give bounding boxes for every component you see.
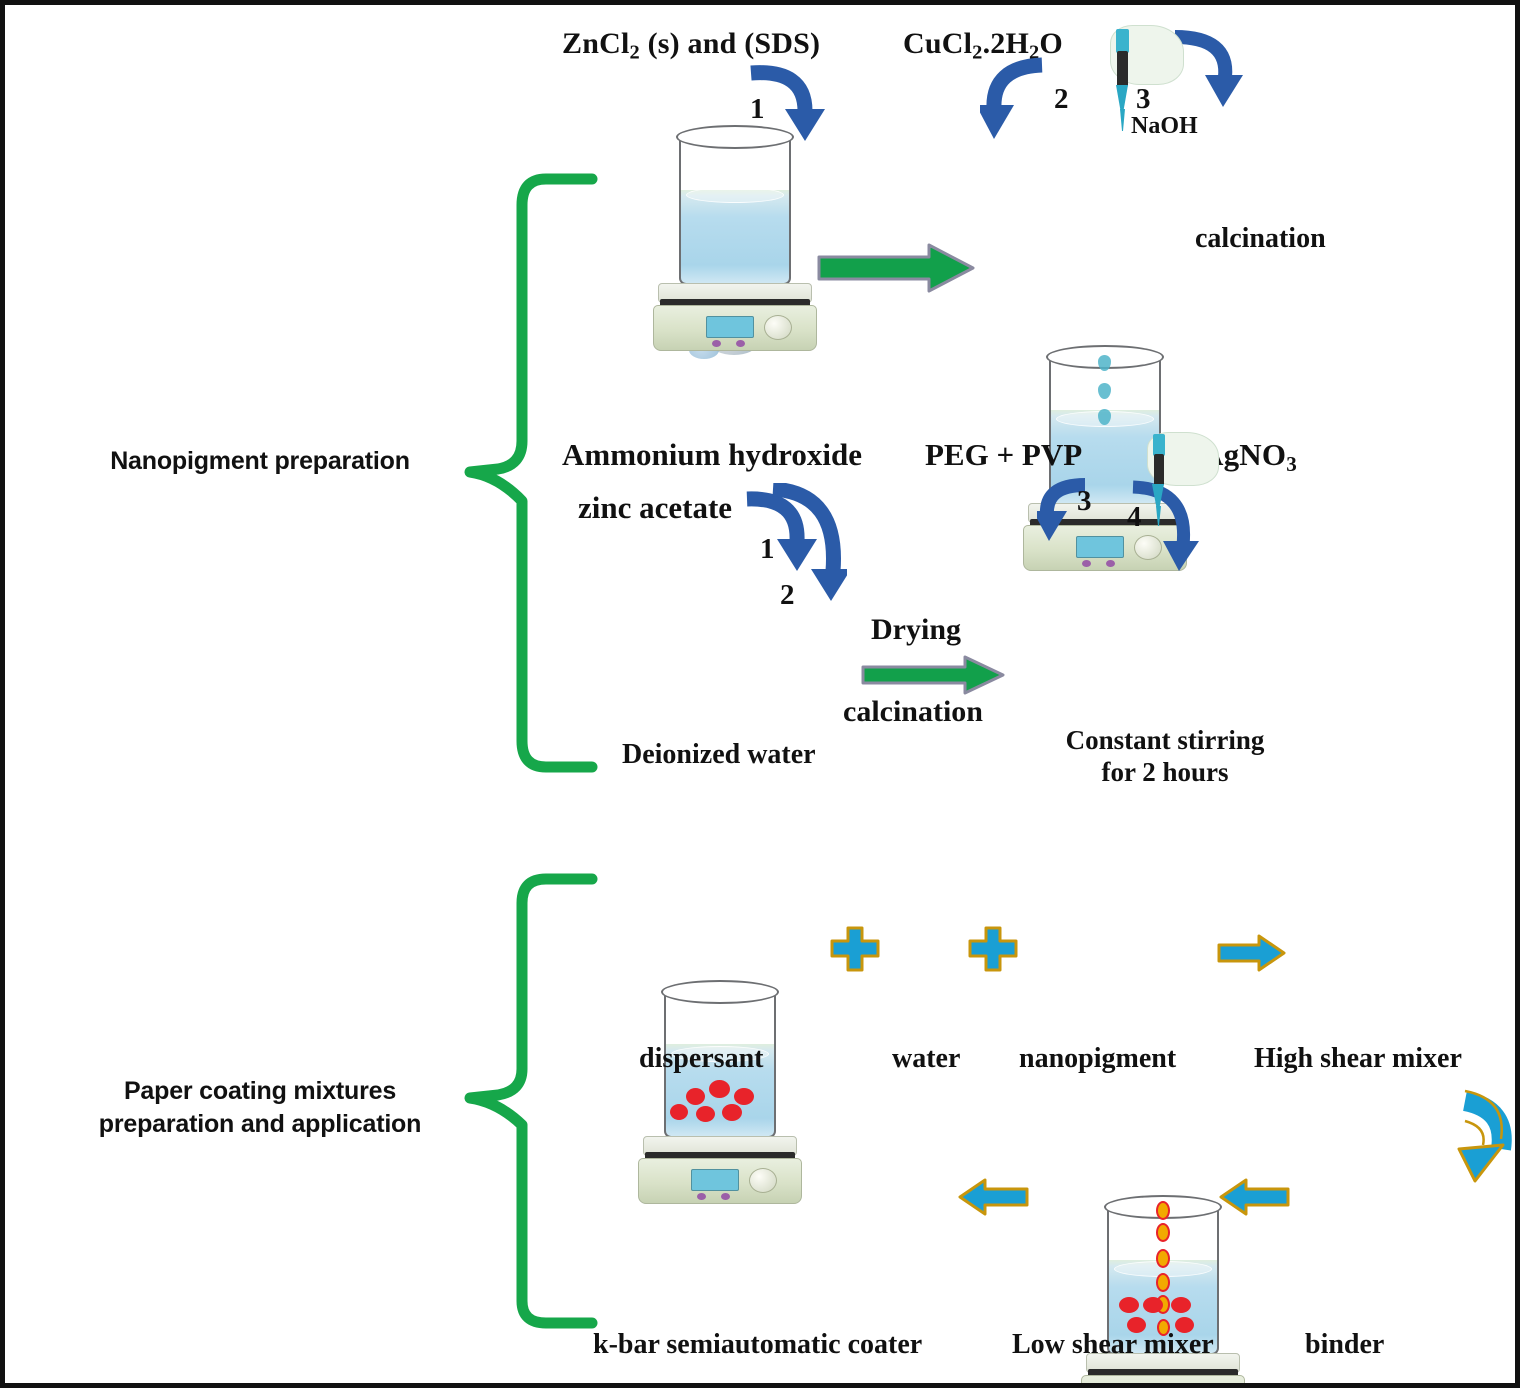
green-arrow-icon-a (817, 241, 977, 304)
label-constant-stirring-line1: Constant stirring (1020, 725, 1310, 757)
pipette-in-hand-icon-top (1080, 23, 1190, 133)
reagent-zncl2-sds: ZnCl2 (s) and (SDS) (562, 27, 820, 65)
section-label-coating: Paper coating mixtures preparation and a… (50, 1075, 470, 1141)
label-deionized-water: Deionized water (622, 739, 816, 771)
cyan-arrow-icon-to-low-mixer (1218, 1177, 1290, 1222)
step-number-2-top: 2 (1054, 83, 1069, 116)
section-label-nanopigment-text: Nanopigment preparation (110, 447, 410, 475)
label-water: water (892, 1043, 960, 1075)
reagent-peg-pvp: PEG + PVP (925, 437, 1082, 473)
reagent-zncl2-sub: 2 (630, 42, 640, 64)
reagent-cucl2-pre: CuCl (903, 27, 972, 60)
cyan-arrow-icon-to-mixer (1217, 933, 1287, 978)
section-label-nanopigment: Nanopigment preparation (60, 445, 460, 478)
reagent-zncl2-post: (s) and (SDS) (640, 27, 820, 60)
label-nanopigment: nanopigment (1019, 1043, 1176, 1075)
cyan-curved-arrow-icon-down (1403, 1083, 1513, 1198)
reagent-ammonium-hydroxide: Ammonium hydroxide (562, 437, 862, 473)
section-label-coating-line2: preparation and application (50, 1108, 470, 1141)
section-label-coating-line1: Paper coating mixtures (50, 1075, 470, 1108)
reagent-zncl2-pre: ZnCl (562, 27, 630, 60)
plus-sign-2 (967, 925, 1019, 978)
label-constant-stirring-line2: for 2 hours (1020, 757, 1310, 789)
curved-arrow-icon-step3-b (1037, 473, 1113, 558)
label-constant-stirring: Constant stirring for 2 hours (1020, 725, 1310, 789)
step-number-3-b: 3 (1077, 485, 1092, 518)
label-calcination-a: calcination (1195, 223, 1326, 255)
reagent-agno3-sub: 3 (1286, 452, 1297, 476)
label-binder: binder (1305, 1329, 1384, 1361)
brace-coating (460, 867, 600, 1337)
label-calcination-b: calcination (843, 695, 983, 729)
label-drying: Drying (871, 613, 961, 647)
plus-sign-1 (829, 925, 881, 978)
label-k-bar-coater: k-bar semiautomatic coater (593, 1329, 922, 1361)
label-high-shear-mixer: High shear mixer (1254, 1043, 1462, 1075)
hotplate-stirrer-rig-a1 (625, 115, 845, 335)
figure-canvas: Nanopigment preparation ZnCl2 (s) and (S… (0, 0, 1520, 1388)
reagent-zinc-acetate: zinc acetate (578, 490, 732, 526)
step-number-1-b: 1 (760, 533, 775, 566)
label-low-shear-mixer: Low shear mixer (1012, 1329, 1214, 1361)
hotplate-stirrer-rig-b1 (610, 970, 830, 1185)
cyan-arrow-icon-to-coater (957, 1177, 1029, 1222)
label-dispersant: dispersant (639, 1043, 763, 1075)
step-number-2-b: 2 (780, 579, 795, 612)
brace-nanopigment (460, 165, 600, 785)
pipette-in-hand-icon-b (1123, 430, 1233, 540)
